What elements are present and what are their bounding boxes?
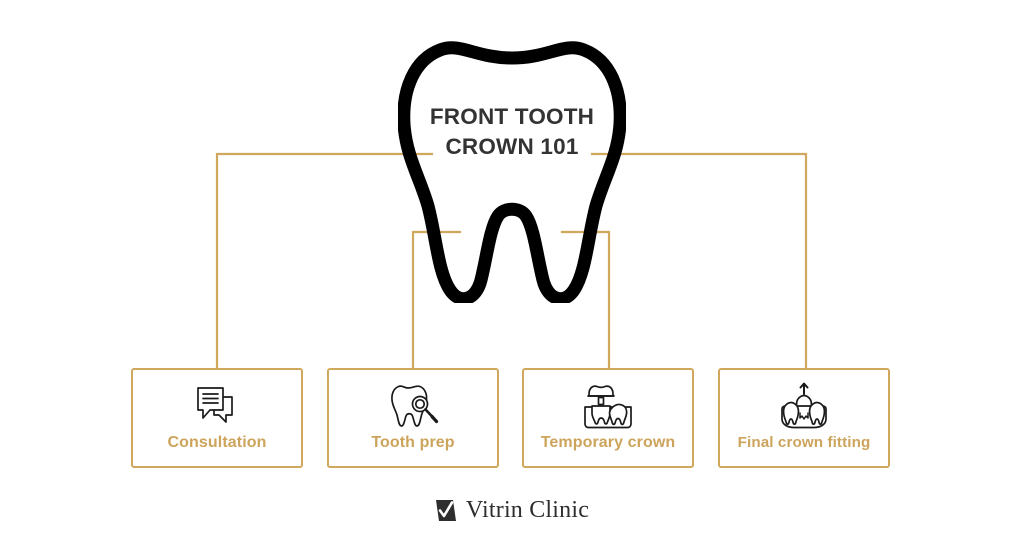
step-card-temporary-crown[interactable]: Temporary crown — [522, 368, 694, 468]
infographic-canvas: FRONT TOOTH CROWN 101 Consultation — [0, 0, 1024, 550]
steps-row: Consultation Tooth prep — [131, 368, 893, 468]
step-label: Consultation — [168, 435, 267, 451]
brand-name: Vitrin Clinic — [466, 498, 589, 522]
step-card-tooth-prep[interactable]: Tooth prep — [327, 368, 499, 468]
step-card-consultation[interactable]: Consultation — [131, 368, 303, 468]
step-label: Final crown fitting — [738, 435, 871, 450]
tooth-outline-icon — [398, 28, 626, 303]
step-label: Tooth prep — [371, 435, 454, 451]
speech-bubbles-icon — [192, 380, 242, 432]
step-label: Temporary crown — [541, 435, 676, 451]
hero-tooth-graphic: FRONT TOOTH CROWN 101 — [398, 28, 626, 303]
tooth-with-dental-mirror-icon — [387, 380, 439, 432]
page-title: FRONT TOOTH CROWN 101 — [398, 102, 626, 162]
vitrin-checkmark-logo-icon — [435, 499, 457, 522]
crown-over-prepared-tooth-icon — [580, 380, 636, 432]
step-card-final-crown-fitting[interactable]: Final crown fitting — [718, 368, 890, 468]
crown-inserted-in-arch-icon — [776, 380, 832, 432]
brand-lockup: Vitrin Clinic — [0, 498, 1024, 522]
